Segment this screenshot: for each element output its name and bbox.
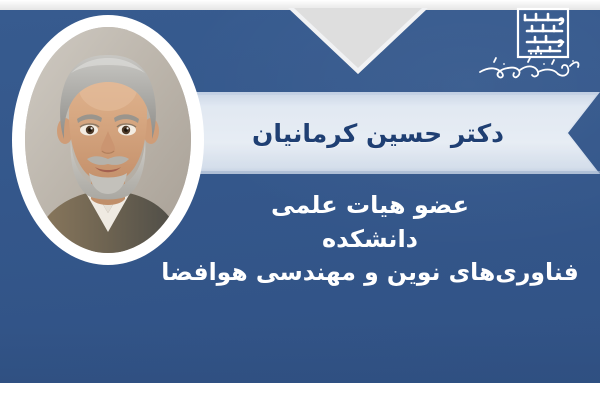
panel-sheen <box>0 323 600 383</box>
description-line-2: دانشکده <box>150 222 590 256</box>
description-block: عضو هیات علمی دانشکده فناوری‌های نوین و … <box>150 188 590 290</box>
shahid-beheshti-university-logo <box>474 6 586 84</box>
bottom-white-margin <box>0 383 600 400</box>
faculty-profile-card: دکتر حسین کرمانیان <box>0 0 600 400</box>
top-v-notch <box>288 8 428 74</box>
description-line-1: عضو هیات علمی <box>150 188 590 222</box>
description-line-3: فناوری‌های نوین و مهندسی هوافضا <box>150 256 590 289</box>
person-name: دکتر حسین کرمانیان <box>150 92 580 174</box>
